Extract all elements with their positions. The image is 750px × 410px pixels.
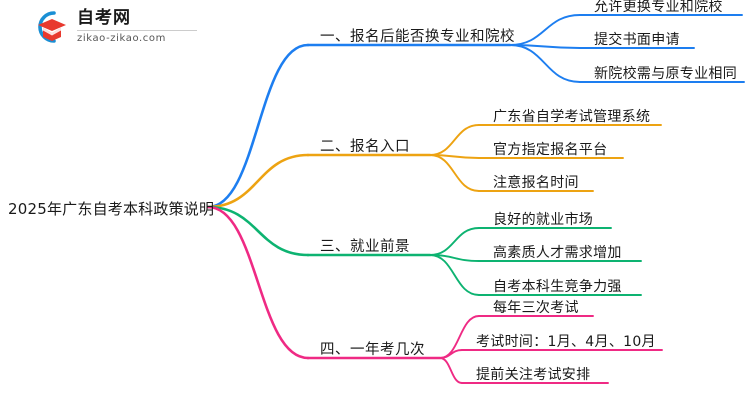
connector-path [510, 45, 580, 48]
leaf-label-4-2[interactable]: 考试时间：1月、4月、10月 [476, 331, 656, 351]
connector-path [208, 207, 308, 255]
connector-path [430, 228, 479, 255]
leaf-label-1-3[interactable]: 新院校需与原专业相同 [594, 63, 737, 83]
leaf-label-1-2[interactable]: 提交书面申请 [594, 29, 680, 49]
leaf-label-4-1[interactable]: 每年三次考试 [493, 297, 579, 317]
leaf-label-1-1[interactable]: 允许更换专业和院校 [594, 0, 723, 16]
connector-path [430, 125, 479, 155]
site-logo: 自考网 zikao-zikao.com [30, 8, 197, 46]
leaf-label-3-2[interactable]: 高素质人才需求增加 [493, 242, 622, 262]
branch-label-1[interactable]: 一、报名后能否换专业和院校 [320, 25, 515, 46]
connector-path [430, 255, 479, 295]
branch-label-2[interactable]: 二、报名入口 [320, 135, 410, 156]
mindmap-canvas: 自考网 zikao-zikao.com 2025年广东自考本科政策说明 一、报名… [0, 0, 750, 410]
connector-path [440, 350, 462, 358]
logo-wordmark: 自考网 zikao-zikao.com [77, 10, 197, 44]
connector-path [510, 45, 580, 82]
connector-path [430, 155, 479, 158]
leaf-label-2-2[interactable]: 官方指定报名平台 [493, 139, 607, 159]
logo-divider [77, 30, 197, 31]
logo-name-cn: 自考网 [77, 10, 197, 27]
root-node-label: 2025年广东自考本科政策说明 [8, 198, 214, 219]
connector-path [510, 15, 580, 45]
connector-path [208, 207, 308, 358]
connector-path [430, 155, 479, 191]
leaf-label-4-3[interactable]: 提前关注考试安排 [476, 364, 590, 384]
connector-path [208, 45, 308, 207]
branch-label-3[interactable]: 三、就业前景 [320, 235, 410, 256]
logo-name-en: zikao-zikao.com [77, 34, 197, 44]
leaf-label-3-3[interactable]: 自考本科生竞争力强 [493, 276, 622, 296]
leaf-label-2-3[interactable]: 注意报名时间 [493, 172, 579, 192]
connector-path [430, 255, 479, 261]
graduation-cap-logo-icon [30, 8, 70, 46]
connector-path [440, 358, 462, 383]
connector-path [440, 316, 479, 358]
branch-label-4[interactable]: 四、一年考几次 [320, 338, 425, 359]
leaf-label-3-1[interactable]: 良好的就业市场 [493, 209, 593, 229]
leaf-label-2-1[interactable]: 广东省自学考试管理系统 [493, 106, 650, 126]
connector-path [208, 155, 308, 207]
